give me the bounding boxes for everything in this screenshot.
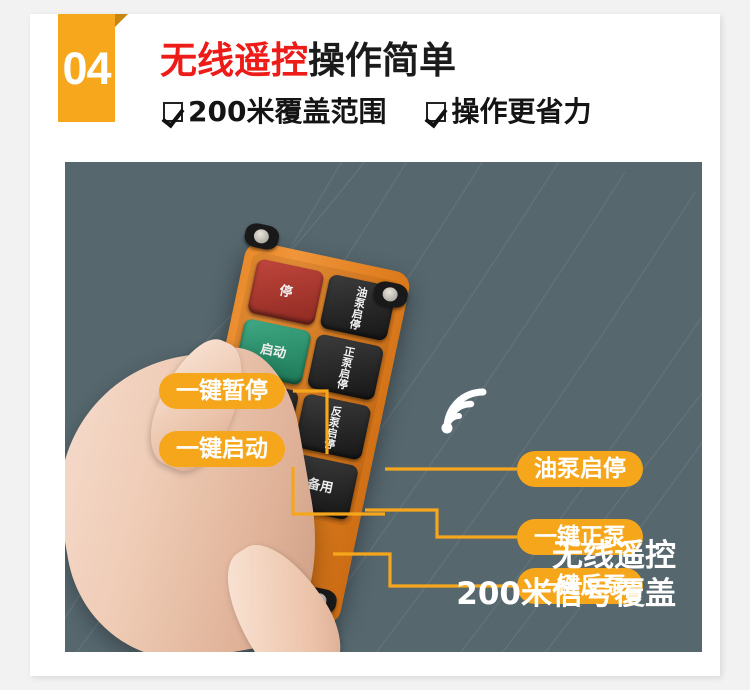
page-root: 04 无线遥控操作简单 200米覆盖范围 操作更省力 [0, 0, 750, 690]
badge-corner-fold-icon [115, 14, 128, 27]
feature-label: 操作更省力 [451, 98, 591, 126]
feature-item-effort: 操作更省力 [426, 98, 591, 126]
photo-caption-line-1: 无线遥控 [456, 538, 676, 576]
page-title-highlight: 无线遥控 [160, 39, 308, 82]
remote-key-pump-fwd[interactable]: 正泵启停 [307, 333, 385, 401]
checkbox-checked-icon [426, 102, 446, 122]
callout-start[interactable]: 一键启动 [159, 431, 285, 467]
section-number-badge: 04 [58, 14, 115, 122]
product-photo: 停 油泵启停 启动 正泵启停 备用 反泵启停 备用 备用 [65, 162, 702, 652]
callout-pump-toggle[interactable]: 油泵启停 [517, 451, 643, 487]
checkbox-checked-icon [163, 102, 183, 122]
callout-pause[interactable]: 一键暂停 [159, 373, 285, 409]
photo-caption: 无线遥控 200米信号覆盖 [456, 538, 676, 614]
section-number-text: 04 [62, 46, 110, 91]
page-title-rest: 操作简单 [308, 39, 456, 82]
feature-item-coverage: 200米覆盖范围 [163, 98, 386, 126]
photo-caption-line-2: 200米信号覆盖 [456, 576, 676, 614]
page-title: 无线遥控操作简单 [160, 42, 456, 79]
remote-key-pump-rev[interactable]: 反泵启停 [294, 393, 372, 461]
feature-label: 200米覆盖范围 [188, 98, 386, 126]
feature-list: 200米覆盖范围 操作更省力 [163, 98, 591, 126]
wifi-signal-icon [435, 380, 495, 438]
